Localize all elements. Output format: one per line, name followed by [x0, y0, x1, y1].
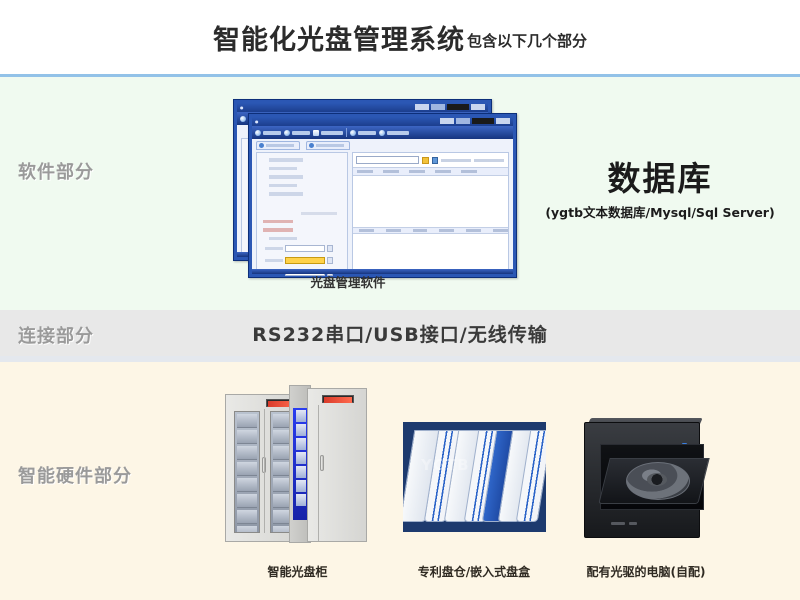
left-pane-required-row: [263, 220, 293, 224]
hardware-caption-computer: 配有光驱的电脑(自配): [566, 563, 726, 580]
cabinet-glass-door-left: [234, 411, 260, 533]
database-title: 数据库: [520, 158, 800, 200]
window-tabstrip-front: [440, 118, 510, 125]
software-window-front: ●: [248, 113, 517, 278]
window-subtabs-front: [256, 141, 350, 150]
left-pane-row: [269, 175, 303, 179]
page-title: 智能化光盘管理系统: [213, 18, 465, 57]
cabinet-handle-right: [320, 455, 324, 471]
computer-with-optical-drive-image: [578, 418, 710, 542]
left-pane-field-highlighted: [265, 257, 347, 264]
computer-button: [611, 522, 625, 525]
table-header-front: [353, 167, 508, 176]
filter-icon-front: [422, 157, 428, 164]
cabinet-door-seam-left: [264, 409, 265, 533]
window-tab-back-1: [415, 104, 429, 110]
window-title-text-front: ●: [255, 119, 259, 124]
connection-interfaces-text: RS232串口/USB接口/无线传输: [0, 320, 800, 347]
search-status-front: [441, 159, 504, 162]
subtab-2: [306, 141, 350, 150]
page-subtitle: 包含以下几个部分: [467, 30, 587, 51]
hardware-caption-cabinet: 智能光盘柜: [215, 563, 380, 580]
refresh-icon-front: [432, 157, 438, 164]
toolbar-separator-front: [346, 128, 347, 137]
software-band-label: 软件部分: [18, 158, 94, 184]
window-right-pane-front: [352, 152, 509, 270]
left-pane-row: [269, 237, 297, 241]
table-secondary-header-front: [353, 227, 508, 234]
left-pane-field: [265, 245, 347, 252]
window-tab-back-2: [431, 104, 445, 110]
window-control-front: [496, 118, 510, 124]
window-tabstrip-back: [415, 104, 485, 111]
left-pane-row: [269, 158, 303, 162]
subtab-1: [256, 141, 300, 150]
search-input-front: [356, 156, 419, 164]
toolbar-button-front-1: [255, 130, 281, 136]
window-tab-front-3: [472, 118, 494, 124]
disc-magazine-image: YGTB: [403, 422, 546, 532]
disc-hub: [647, 473, 667, 486]
window-tab-front-1: [440, 118, 454, 124]
computer-button-2: [629, 522, 637, 525]
page-header: 智能化光盘管理系统 包含以下几个部分: [0, 0, 800, 74]
toolbar-button-front-5: [379, 130, 409, 136]
left-pane-row: [269, 184, 297, 188]
window-titlebar-back: ●: [237, 103, 488, 112]
left-pane-required-row: [263, 228, 293, 232]
window-left-pane-front: [256, 152, 348, 270]
window-control-back: [471, 104, 485, 110]
infographic-page: 智能化光盘管理系统 包含以下几个部分 软件部分 ●: [0, 0, 800, 600]
hardware-caption-magazine: 专利盘仓/嵌入式盘盒: [398, 563, 550, 580]
window-frame-front: ●: [249, 114, 516, 277]
window-body-front: [252, 139, 513, 274]
magazine-watermark: YGTB: [421, 456, 529, 482]
window-titlebar-front: ●: [252, 117, 513, 126]
cabinet-right-body: [307, 388, 367, 542]
window-tab-back-3: [447, 104, 469, 110]
window-tab-front-2: [456, 118, 470, 124]
cabinet-led-display-right: [322, 395, 354, 403]
toolbar-button-front-3: [313, 130, 343, 136]
window-search-row-front: [353, 153, 508, 164]
window-toolbar-front: [252, 126, 513, 139]
window-title-text-back: ●: [240, 105, 244, 110]
database-subtitle: (ygtb文本数据库/Mysql/Sql Server): [520, 202, 800, 221]
page-header-inner: 智能化光盘管理系统 包含以下几个部分: [0, 0, 800, 74]
database-block: 数据库 (ygtb文本数据库/Mysql/Sql Server): [520, 158, 800, 221]
cabinet-door-seam-right: [318, 405, 319, 541]
left-pane-note: [301, 212, 337, 215]
software-caption: 光盘管理软件: [248, 272, 448, 291]
left-pane-row: [269, 192, 303, 196]
toolbar-button-front-2: [284, 130, 310, 136]
disc-cabinet-image: [215, 380, 380, 555]
hardware-band-label: 智能硬件部分: [18, 462, 132, 488]
left-pane-row: [269, 167, 297, 171]
toolbar-button-front-4: [350, 130, 376, 136]
